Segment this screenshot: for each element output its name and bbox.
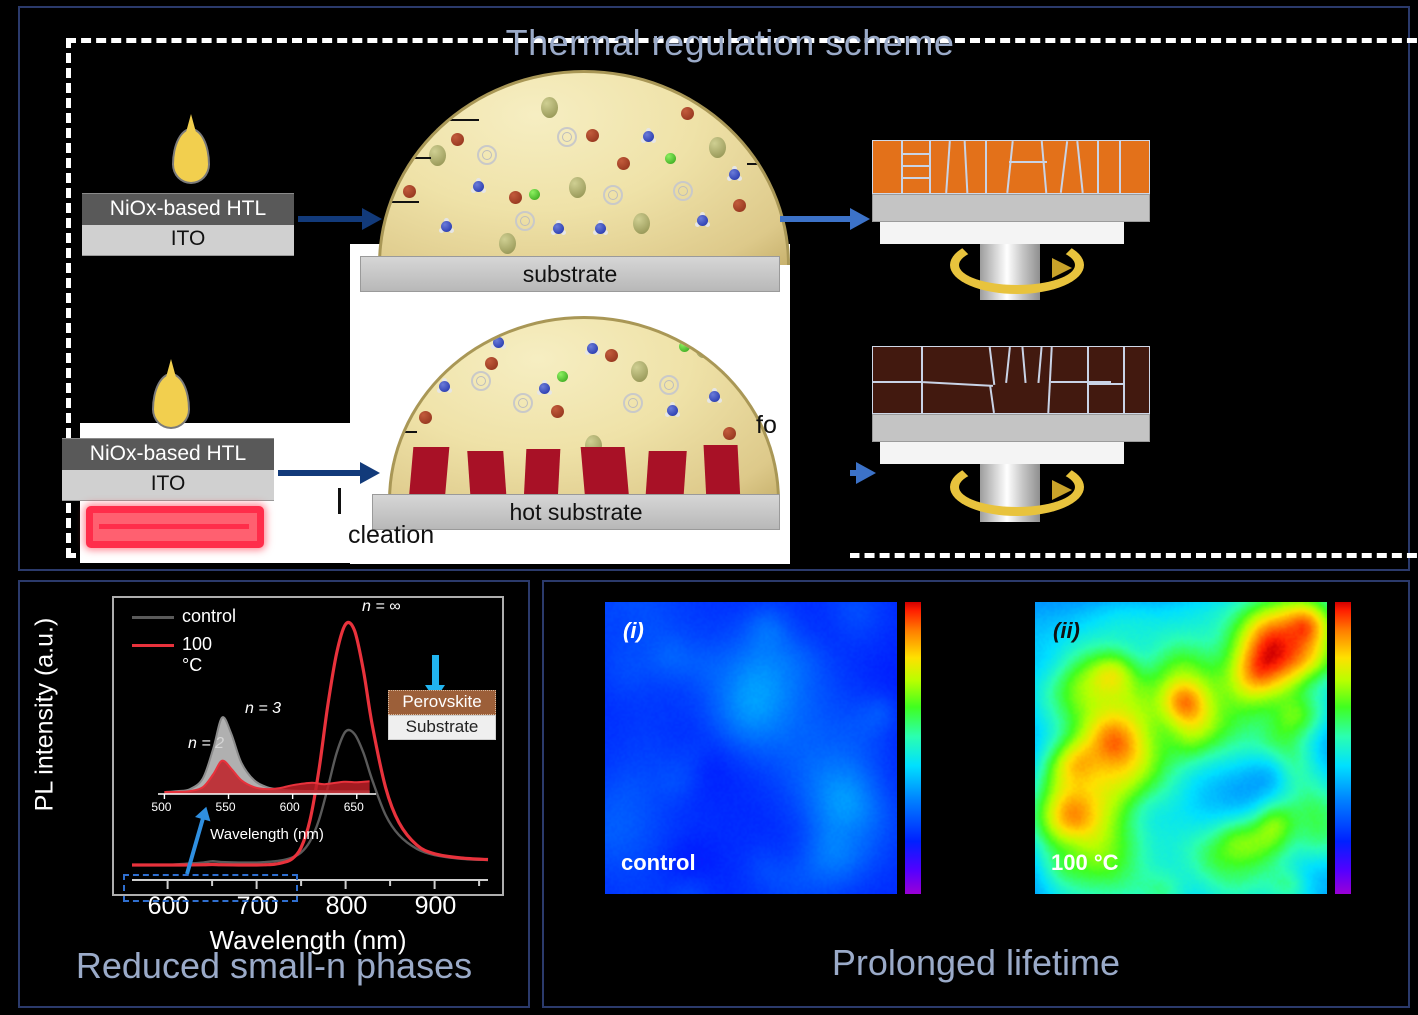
ito-layer-label: ITO (82, 225, 294, 256)
legend-swatch-control (132, 616, 174, 619)
inset-zoom-marquee (123, 874, 298, 902)
pl-inset-tick-600: 600 (280, 800, 300, 814)
lifetime-panel-caption: Prolonged lifetime (545, 942, 1407, 984)
annotation-n-infinity: n = ∞ (362, 598, 401, 616)
htl-layer-label: NiOx-based HTL (82, 193, 294, 225)
spin-coater-hot (872, 346, 1150, 522)
spin-arrow-icon-hot (1052, 480, 1072, 500)
map-index-ii: (ii) (1053, 618, 1080, 644)
perovskite-film-hot (872, 346, 1150, 414)
pl-panel-caption: Reduced small-n phases (20, 945, 528, 987)
process-arrow-control (298, 216, 366, 222)
substrate-stack-hot: NiOx-based HTL ITO (62, 438, 274, 501)
scheme-title: Thermal regulation scheme (420, 22, 1040, 64)
mask-strip (790, 338, 850, 564)
tick-mark (338, 488, 341, 514)
pl-x-tick-900: 900 (415, 892, 457, 921)
htl-layer-label-hot: NiOx-based HTL (62, 438, 274, 470)
legend-label-hot: 100 °C (182, 634, 212, 676)
film-stack-legend: Perovskite Substrate (388, 690, 496, 740)
map-index-i: (i) (623, 618, 644, 644)
legend-perovskite-label: Perovskite (388, 690, 496, 715)
small-n-nucleus (704, 445, 741, 501)
pl-inset-tick-500: 500 (151, 800, 171, 814)
legend-swatch-hot (132, 644, 174, 647)
pl-inset-x-label: Wavelength (nm) (152, 826, 382, 843)
substrate-label-room: substrate (360, 256, 780, 292)
spin-coater-control (872, 140, 1150, 300)
pl-inset-tick-550: 550 (216, 800, 236, 814)
small-n-nucleus (581, 447, 630, 501)
down-arrow-icon (432, 655, 439, 685)
coater-substrate-hot (872, 414, 1150, 442)
ito-layer-label-hot: ITO (62, 470, 274, 501)
thermal-regulation-panel: Thermal regulation scheme NiOx-based HTL… (18, 6, 1410, 571)
map-label-hot: 100 °C (1051, 850, 1119, 876)
text-fragment-forms: fo (756, 411, 777, 440)
legend-label-control: control (182, 606, 236, 627)
text-fragment-nucleation: cleation (348, 521, 434, 550)
pl-inset-tick-650: 650 (344, 800, 364, 814)
legend-substrate-label: Substrate (388, 715, 496, 740)
spin-arrow-icon (1052, 258, 1072, 278)
map-label-control: control (621, 850, 696, 876)
perovskite-film-control (872, 140, 1150, 194)
colorbar-control (905, 602, 921, 894)
process-arrow-hot (278, 470, 364, 476)
substrate-stack-control: NiOx-based HTL ITO (82, 193, 294, 256)
pl-x-tick-800: 800 (326, 892, 368, 921)
pl-y-axis-label: PL intensity (a.u.) (31, 610, 60, 820)
result-arrow-control (780, 216, 854, 222)
hotplate-icon (86, 506, 264, 548)
coater-substrate (872, 194, 1150, 222)
colorbar-hot (1335, 602, 1351, 894)
small-n-nucleus (409, 447, 450, 501)
